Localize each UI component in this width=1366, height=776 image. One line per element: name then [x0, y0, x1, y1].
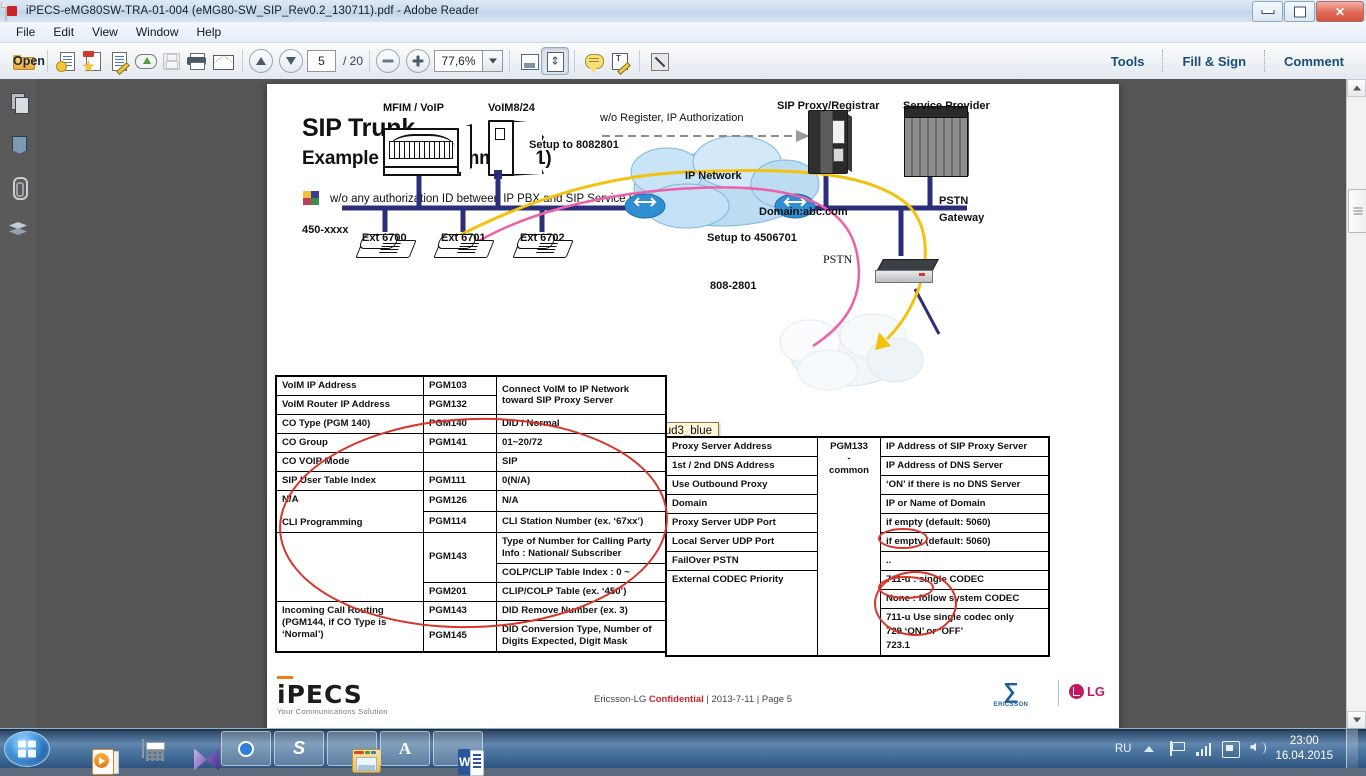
router-right — [775, 194, 815, 218]
taskbar: RU 23:00 16.04.2015 — [0, 728, 1366, 768]
menu-edit[interactable]: Edit — [44, 23, 83, 41]
ericsson-logo: ∑ ERICSSON — [991, 680, 1031, 708]
label-808-2801: 808-2801 — [710, 280, 757, 292]
cell-param: Proxy Server UDP Port — [666, 513, 818, 532]
label-pstn-gateway-2: Gateway — [939, 212, 984, 224]
cell-pgm: PGM143 — [424, 601, 497, 620]
toolbar-right-links: Tools Fill & Sign Comment — [1099, 50, 1366, 73]
save-form-icon[interactable] — [516, 48, 542, 74]
cell-desc: 711-u : single CODEC — [881, 570, 1050, 589]
four-square-bullet-icon — [303, 191, 321, 206]
table-row: VoIM IP Address PGM103 Connect VoIM to I… — [276, 376, 666, 395]
table-row: CO VOIP Mode SIP — [276, 452, 666, 471]
adobe-reader-icon[interactable] — [380, 731, 430, 766]
previous-page-icon[interactable] — [249, 49, 273, 73]
cell-desc: DID / Normal — [497, 414, 667, 433]
cell-param: CO Type (PGM 140) — [276, 414, 424, 433]
flag-action-center-icon[interactable] — [1167, 740, 1185, 758]
clock-date: 16.04.2015 — [1275, 749, 1333, 763]
cell-param: CO Group — [276, 433, 424, 452]
cell-desc: .. — [881, 551, 1050, 570]
bullet-text: w/o any authorization ID between IP PBX … — [330, 193, 672, 205]
desk-phone-icon — [516, 232, 570, 258]
cell-pgm: PGM201 — [424, 582, 497, 601]
sticky-note-icon[interactable] — [581, 48, 607, 74]
footer-confidential: Confidential — [649, 694, 704, 705]
label-ext-6700: Ext 6700 — [362, 232, 407, 244]
layers-icon[interactable] — [6, 217, 30, 241]
cell-param: Local Server UDP Port — [666, 532, 818, 551]
table-row: Incoming Call Routing (PGM144, if CO Typ… — [276, 601, 666, 620]
cell-desc: 0(N/A) — [497, 471, 667, 490]
cell-desc: CLI Station Number (ex. ‘67xx’) — [497, 511, 667, 532]
desk-phone-icon — [437, 232, 491, 258]
taskbar-items — [68, 731, 483, 766]
window-title: iPECS-eMG80SW-TRA-01-004 (eMG80-SW_SIP_R… — [26, 5, 479, 17]
page-thumbnails-icon[interactable] — [6, 91, 30, 115]
cell-desc: CLIP/COLP Table (ex. ‘450’) — [497, 582, 667, 601]
pgm-common-dash: - — [823, 453, 875, 465]
save-icon[interactable] — [158, 48, 184, 74]
cell-desc: IP or Name of Domain — [881, 494, 1050, 513]
cell-pgm-common: PGM133 - common — [818, 437, 881, 656]
cell-pgm: PGM141 — [424, 433, 497, 452]
comment-panel-button[interactable]: Comment — [1272, 50, 1356, 73]
toolbar-separator — [639, 50, 640, 72]
toolbar-separator — [574, 50, 575, 72]
fit-page-icon[interactable]: ⇕ — [542, 48, 568, 74]
bullet-row: w/o any authorization ID between IP PBX … — [303, 191, 672, 206]
windows-explorer-icon[interactable] — [327, 731, 377, 766]
cell-desc: SIP — [497, 452, 667, 471]
navigation-rail — [0, 79, 37, 729]
open-button[interactable]: Open — [7, 50, 41, 72]
table-row: N/A CLI Programming PGM126 N/A — [276, 490, 666, 511]
table-row: CO Group PGM141 01~20/72 — [276, 433, 666, 452]
restore-icon — [1294, 6, 1306, 17]
close-icon: ✕ — [1335, 6, 1345, 18]
bookmarks-icon[interactable] — [6, 133, 30, 157]
cell-pgm: PGM145 — [424, 620, 497, 651]
label-setup-4506701: Setup to 4506701 — [707, 232, 797, 244]
next-page-icon[interactable] — [279, 49, 303, 73]
desk-phone-icon — [359, 232, 413, 258]
pgm-common-code: PGM133 — [823, 441, 875, 453]
toolbar-separator — [369, 50, 370, 72]
label-pstn-cloud: PSTN — [823, 252, 852, 267]
cell-param: VoIM Router IP Address — [276, 395, 424, 414]
network-icon[interactable] — [1221, 740, 1239, 758]
cell-desc: DID Remove Number (ex. 3) — [497, 601, 667, 620]
cell-param-2: CLI Programming — [282, 517, 418, 529]
label-service-provider: Service Provider — [903, 100, 990, 112]
table-row: SIP User Table Index PGM111 0(N/A) — [276, 471, 666, 490]
footer-company: Ericsson-LG — [594, 694, 649, 705]
create-pdf-icon[interactable] — [54, 48, 80, 74]
cell-pgm — [424, 452, 497, 471]
upload-cloud-icon[interactable] — [132, 48, 158, 74]
document-viewport[interactable]: SIP Trunk Example & Programming (1) w/o … — [36, 79, 1347, 729]
programming-table-right: Proxy Server Address PGM133 - common IP … — [665, 436, 1050, 657]
restore-button[interactable] — [1284, 1, 1315, 22]
cell-pgm: PGM132 — [424, 395, 497, 414]
taskbar-clock[interactable]: 23:00 16.04.2015 — [1275, 734, 1337, 763]
volume-icon[interactable] — [1248, 740, 1266, 758]
lg-wordmark: LG — [1087, 684, 1105, 699]
label-ext-prefix: 450-xxxx — [302, 224, 349, 236]
footer-divider — [1058, 680, 1059, 706]
sip-proxy-server-icon — [808, 110, 852, 174]
zoom-dropdown-icon[interactable] — [483, 50, 503, 72]
cell-desc: ‘ON’ if there is no DNS Server — [881, 475, 1050, 494]
cell-param: 1st / 2nd DNS Address — [666, 456, 818, 475]
label-pstn-gateway-1: PSTN — [939, 195, 968, 207]
ericsson-mark-icon: ∑ — [991, 680, 1031, 702]
scroll-thumb[interactable] — [1348, 189, 1366, 233]
lg-face-icon — [1069, 684, 1084, 699]
minimize-button[interactable] — [1252, 1, 1283, 22]
label-domain: Domain:abc.com — [759, 206, 848, 218]
tools-panel-button[interactable]: Tools — [1099, 50, 1157, 73]
service-provider-rack-icon — [904, 106, 968, 176]
windows-start-orb[interactable] — [4, 731, 50, 767]
cell-param: SIP User Table Index — [276, 471, 424, 490]
menu-view[interactable]: View — [83, 23, 127, 41]
cell-param: Use Outbound Proxy — [666, 475, 818, 494]
toolbar: Open 5 / 20 77,6% ⇕ — [0, 43, 1366, 80]
cell-param: FailOver PSTN — [666, 551, 818, 570]
table-row: CO Type (PGM 140) PGM140 DID / Normal — [276, 414, 666, 433]
menu-file[interactable]: File — [7, 23, 44, 41]
cell-pgm: PGM114 — [424, 511, 497, 532]
close-button[interactable]: ✕ — [1316, 1, 1364, 22]
print-icon[interactable] — [184, 48, 210, 74]
cell-param: External CODEC Priority — [666, 570, 818, 655]
minimize-icon — [1261, 10, 1274, 14]
scroll-down-icon[interactable] — [1347, 711, 1366, 729]
cell-param: VoIM IP Address — [276, 376, 424, 395]
cell-param: CO VOIP Mode — [276, 452, 424, 471]
cell-desc: if empty (default: 5060) — [881, 532, 1050, 551]
label-ext-6702: Ext 6702 — [520, 232, 565, 244]
toolbar-separator — [1264, 50, 1266, 72]
cell-desc: IP Address of DNS Server — [881, 456, 1050, 475]
cell-desc: 723.1 — [881, 639, 1050, 656]
microsoft-word-icon[interactable] — [433, 731, 483, 766]
label-sip-proxy: SIP Proxy/Registrar — [777, 100, 880, 112]
page-total-label: / 20 — [343, 54, 363, 68]
cell-pgm: PGM103 — [424, 376, 497, 395]
cell-pgm: PGM140 — [424, 414, 497, 433]
lg-logo: LG — [1069, 684, 1105, 699]
ipecs-tagline: Your Communications Solution — [277, 707, 388, 716]
pgm-common-word: common — [823, 465, 875, 477]
pstn-gateway-icon — [875, 259, 935, 289]
zoom-in-icon[interactable] — [406, 49, 430, 73]
ip-network-cloud — [631, 136, 819, 228]
window-controls: ✕ — [1252, 1, 1364, 22]
cell-blank — [276, 532, 424, 601]
cell-param: Incoming Call Routing (PGM144, if CO Typ… — [276, 601, 424, 651]
attachments-icon[interactable] — [6, 175, 30, 199]
label-ip-network: IP Network — [685, 170, 742, 182]
cell-pgm: PGM143 — [424, 532, 497, 582]
cell-desc: 711-u Use single codec only — [881, 608, 1050, 624]
title-bar: iPECS-eMG80SW-TRA-01-004 (eMG80-SW_SIP_R… — [0, 0, 1366, 23]
movie-maker-icon[interactable] — [170, 732, 218, 765]
system-tray: RU 23:00 16.04.2015 — [1115, 729, 1366, 768]
footer-meta: | 2013-7-11 | Page 5 — [704, 694, 792, 705]
zoom-out-icon[interactable] — [376, 49, 400, 73]
label-wo-register: w/o Register, IP Authorization — [600, 112, 744, 124]
toolbar-separator — [47, 50, 48, 72]
toolbar-separator — [1162, 50, 1164, 72]
cell-desc: 729 ‘ON’ or ‘OFF’ — [881, 625, 1050, 639]
combine-files-icon[interactable] — [80, 48, 106, 74]
adobe-reader-window: iPECS-eMG80SW-TRA-01-004 (eMG80-SW_SIP_R… — [0, 0, 1366, 768]
zoom-level-input[interactable]: 77,6% — [434, 50, 483, 72]
toolbar-separator — [242, 50, 243, 72]
cell-param: N/A — [282, 494, 418, 506]
label-mfim: MFIM / VoIP — [383, 102, 444, 114]
cell-desc: IP Address of SIP Proxy Server — [881, 437, 1050, 456]
cell-desc: 01~20/72 — [497, 433, 667, 452]
pdf-page: SIP Trunk Example & Programming (1) w/o … — [267, 84, 1119, 729]
programming-table-left: VoIM IP Address PGM103 Connect VoIM to I… — [275, 375, 667, 653]
edit-pdf-icon[interactable] — [106, 48, 132, 74]
page-number-input[interactable]: 5 — [307, 50, 336, 72]
page-title: SIP Trunk — [302, 114, 415, 143]
label-voim: VoIM8/24 — [488, 102, 535, 114]
calculator-icon[interactable] — [119, 732, 167, 765]
email-icon[interactable] — [210, 48, 236, 74]
cell-desc: Type of Number for Calling Party Info : … — [497, 532, 667, 563]
show-desktop-button[interactable] — [1346, 729, 1358, 768]
menu-help[interactable]: Help — [188, 23, 231, 41]
cell-desc: DID Conversion Type, Number of Digits Ex… — [497, 620, 667, 651]
toolbar-separator — [509, 50, 510, 72]
cell-param: Domain — [666, 494, 818, 513]
windows-media-player-icon[interactable] — [68, 732, 116, 765]
cell-param-group: N/A CLI Programming — [276, 490, 424, 532]
cell-desc: if empty (default: 5060) — [881, 513, 1050, 532]
cell-param: Proxy Server Address — [666, 437, 818, 456]
page-subtitle: Example & Programming (1) — [302, 148, 551, 170]
show-hidden-icons[interactable] — [1140, 740, 1158, 758]
clock-time: 23:00 — [1275, 734, 1333, 748]
fill-and-sign-button[interactable]: Fill & Sign — [1170, 50, 1258, 73]
language-indicator[interactable]: RU — [1115, 743, 1132, 755]
cell-pgm: PGM126 — [424, 490, 497, 511]
cell-desc: Connect VoIM to IP Network toward SIP Pr… — [497, 376, 667, 414]
cell-pgm: PGM111 — [424, 471, 497, 490]
menu-window[interactable]: Window — [127, 23, 188, 41]
google-chrome-icon[interactable] — [221, 731, 271, 766]
cell-desc: N/A — [497, 490, 667, 511]
table-row: Proxy Server Address PGM133 - common IP … — [666, 437, 1049, 456]
cell-desc: COLP/CLIP Table Index : 0 ~ — [497, 563, 667, 582]
text-comment-icon[interactable] — [607, 48, 633, 74]
pstn-cloud — [780, 314, 923, 390]
ericsson-wordmark: ERICSSON — [991, 702, 1031, 708]
vertical-scrollbar[interactable] — [1346, 79, 1366, 729]
expand-icon[interactable] — [646, 48, 672, 74]
slide-content: SIP Trunk Example & Programming (1) w/o … — [267, 84, 1119, 729]
open-button-label: Open — [13, 54, 45, 68]
cell-desc: None : follow system CODEC — [881, 589, 1050, 608]
skype-icon[interactable] — [274, 731, 324, 766]
table-row: PGM143 Type of Number for Calling Party … — [276, 532, 666, 563]
scroll-up-icon[interactable] — [1347, 79, 1366, 97]
network-signal-icon[interactable] — [1194, 740, 1212, 758]
label-ext-6701: Ext 6701 — [441, 232, 486, 244]
menu-bar: File Edit View Window Help — [0, 22, 1366, 43]
pdf-document-icon — [5, 3, 21, 19]
